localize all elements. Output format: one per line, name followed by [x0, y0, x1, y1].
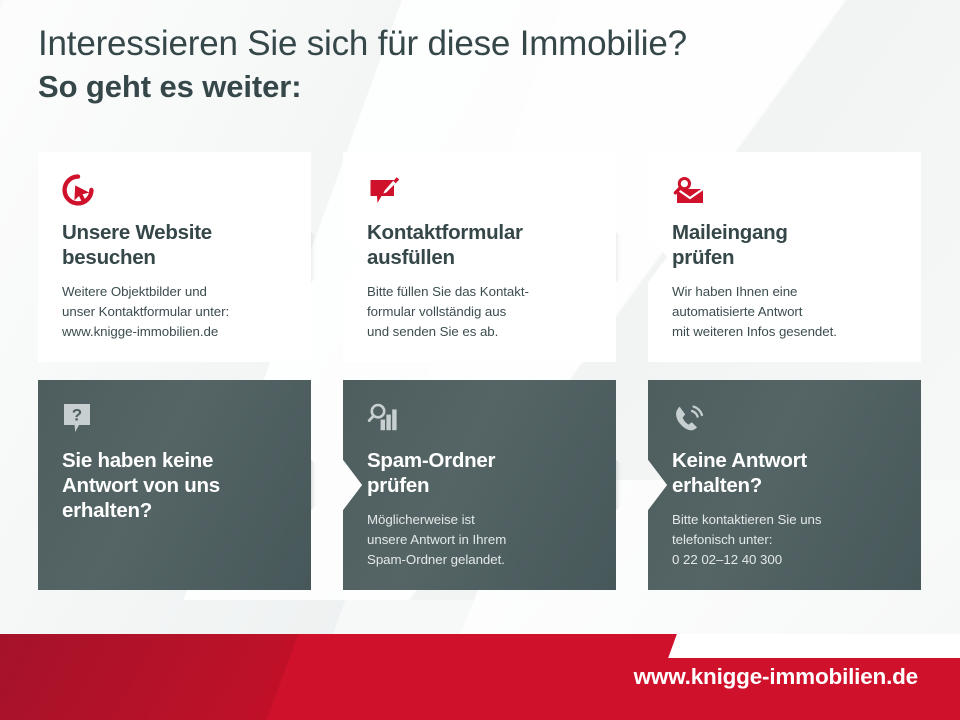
card-body: Weitere Objektbilder und unser Kontaktfo… [62, 282, 289, 343]
card-body: Möglicherweise ist unsere Antwort in Ihr… [367, 510, 594, 571]
card-title-line: erhalten? [672, 474, 899, 499]
card-title-line: erhalten? [62, 499, 289, 524]
card-title-line: Kontaktformular [367, 221, 594, 246]
card-title: Spam-Ordner prüfen [367, 449, 594, 499]
card-body: Wir haben Ihnen eine automatisierte Antw… [672, 282, 899, 343]
footer-top-wedge [668, 634, 960, 658]
cursor-click-icon [62, 174, 289, 212]
card-title-line: Sie haben keine [62, 449, 289, 474]
speech-bubble-pen-icon [367, 174, 594, 212]
search-chart-icon [367, 402, 594, 440]
step-card-kontaktformular[interactable]: Kontaktformular ausfüllen Bitte füllen S… [343, 152, 616, 362]
steps-grid: Unsere Website besuchen Weitere Objektbi… [0, 0, 960, 720]
footer-diagonal-mid [0, 634, 299, 720]
card-title: Kontaktformular ausfüllen [367, 221, 594, 271]
headline-question: Interessieren Sie sich für diese Immobil… [38, 22, 938, 67]
card-title-line: ausfüllen [367, 246, 594, 271]
headline-subtitle: So geht es weiter: [38, 67, 938, 108]
footer-bar: www.knigge-immobilien.de [0, 634, 960, 720]
card-title-line: Antwort von uns [62, 474, 289, 499]
step-card-keine-antwort[interactable]: Keine Antwort erhalten? Bitte kontaktier… [648, 380, 921, 590]
question-bubble-icon: ? [62, 402, 289, 440]
page-title: Interessieren Sie sich für diese Immobil… [38, 22, 938, 108]
phone-ringing-icon [672, 402, 899, 440]
card-body: Bitte kontaktieren Sie uns telefonisch u… [672, 510, 899, 571]
card-body: Bitte füllen Sie das Kontakt- formular v… [367, 282, 594, 343]
infographic-canvas: Interessieren Sie sich für diese Immobil… [0, 0, 960, 720]
card-title-line: Keine Antwort [672, 449, 899, 474]
card-title-line: Maileingang [672, 221, 899, 246]
card-title: Sie haben keine Antwort von uns erhalten… [62, 449, 289, 523]
card-title-line: besuchen [62, 246, 289, 271]
footer-website-url[interactable]: www.knigge-immobilien.de [634, 664, 918, 690]
card-title-line: prüfen [672, 246, 899, 271]
card-title: Unsere Website besuchen [62, 221, 289, 271]
card-title: Keine Antwort erhalten? [672, 449, 899, 499]
svg-text:?: ? [72, 406, 82, 425]
card-title-line: prüfen [367, 474, 594, 499]
card-title-line: Spam-Ordner [367, 449, 594, 474]
envelope-search-icon [672, 174, 899, 212]
step-card-website[interactable]: Unsere Website besuchen Weitere Objektbi… [38, 152, 311, 362]
step-card-keine-antwort-frage[interactable]: ? Sie haben keine Antwort von uns erhalt… [38, 380, 311, 590]
step-card-maileingang[interactable]: Maileingang prüfen Wir haben Ihnen eine … [648, 152, 921, 362]
step-card-spam-ordner[interactable]: Spam-Ordner prüfen Möglicherweise ist un… [343, 380, 616, 590]
card-title: Maileingang prüfen [672, 221, 899, 271]
card-title-line: Unsere Website [62, 221, 289, 246]
